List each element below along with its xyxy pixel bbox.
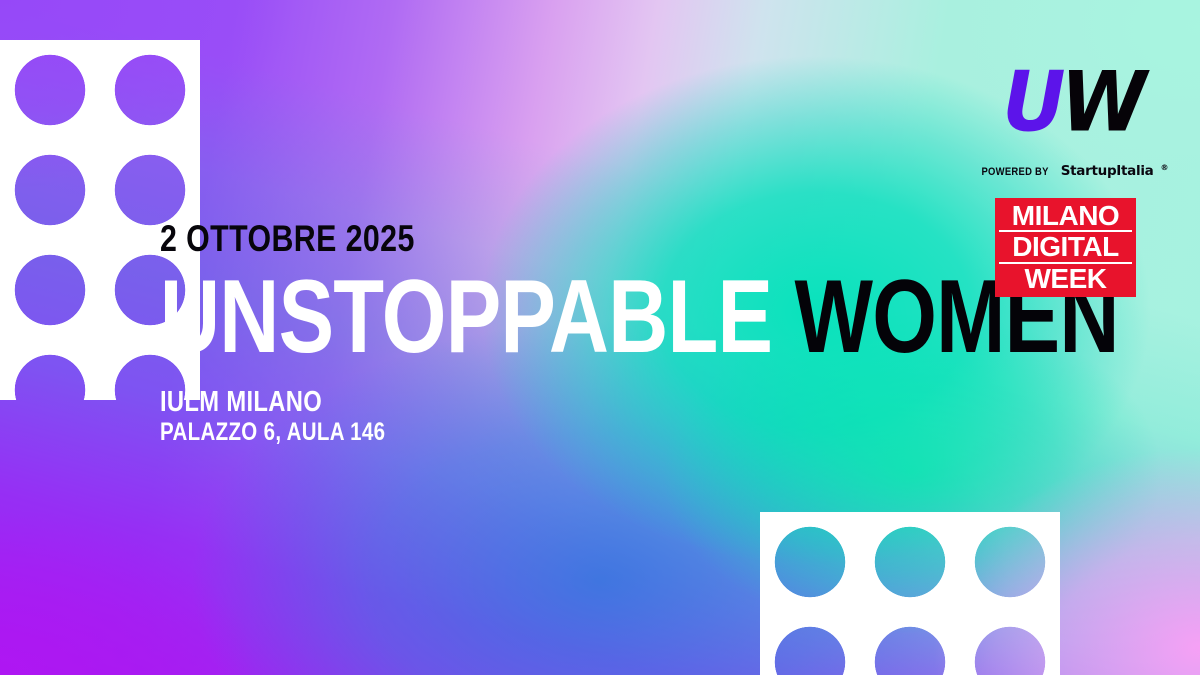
milano-digital-week-logo: MILANO DIGITAL WEEK	[995, 198, 1136, 297]
uw-logo: UW	[1002, 70, 1142, 137]
event-venue-name: IULM MILANO	[160, 387, 750, 418]
event-venue-detail: PALAZZO 6, AULA 146	[160, 418, 750, 446]
mdw-logo-line-week: WEEK	[995, 265, 1136, 292]
page-title: UNSTOPPABLE WOMEN	[160, 271, 736, 365]
mdw-logo-line-digital: DIGITAL	[995, 233, 1136, 260]
powered-by-credit: POWERED BY StartupItalia®	[996, 163, 1148, 179]
powered-by-label: POWERED BY	[981, 166, 1048, 178]
uw-logo-letters: UW	[1002, 68, 1142, 139]
event-poster: 2 OTTOBRE 2025 UNSTOPPABLE WOMEN IULM MI…	[0, 0, 1200, 675]
circle-star-grid-bottom-right-decoration	[760, 512, 1060, 675]
event-venue: IULM MILANO PALAZZO 6, AULA 146	[160, 387, 750, 446]
startupitalia-wordmark: StartupItalia	[1061, 163, 1154, 179]
uw-logo-letter-u: U	[1002, 55, 1060, 150]
registered-trademark-icon: ®	[1160, 163, 1168, 172]
event-date: 2 OTTOBRE 2025	[160, 220, 750, 257]
event-text-block: 2 OTTOBRE 2025 UNSTOPPABLE WOMEN IULM MI…	[160, 220, 880, 446]
page-title-word-unstoppable: UNSTOPPABLE	[160, 259, 772, 375]
uw-logo-letter-w: W	[1061, 55, 1142, 150]
mdw-logo-line-milano: MILANO	[995, 202, 1136, 229]
